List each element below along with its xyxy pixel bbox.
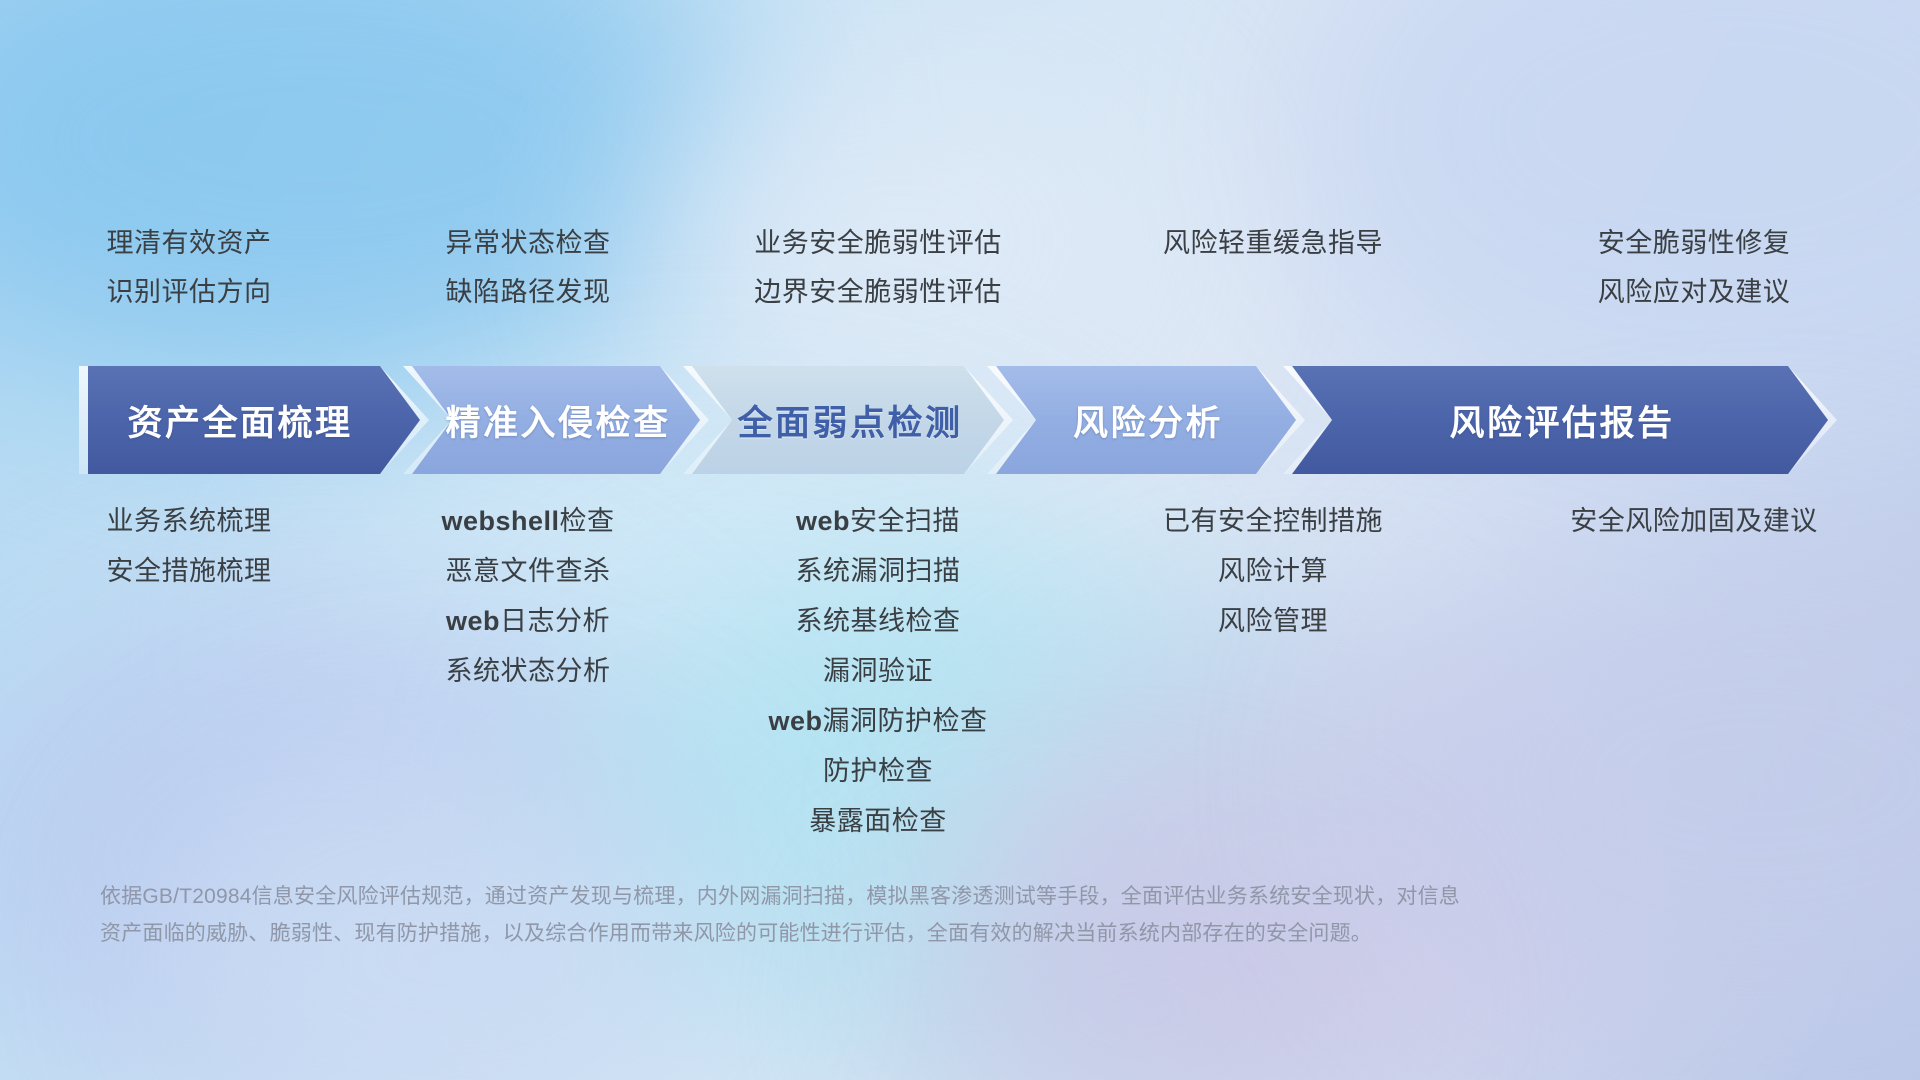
footer-description: 依据GB/T20984信息安全风险评估规范，通过资产发现与梳理，内外网漏洞扫描，… [100, 878, 1800, 952]
process-stage-label: 资产全面梳理 [127, 395, 352, 446]
process-stage-label: 风险分析 [1073, 395, 1223, 446]
stage-outcomes-2: 异常状态检查缺陷路径发现 [378, 230, 678, 328]
stage-activities-4: 已有安全控制措施风险计算风险管理 [1078, 508, 1468, 858]
footer-line-2: 资产面临的威胁、脆弱性、现有防护措施，以及综合作用而带来风险的可能性进行评估，全… [100, 915, 1800, 952]
stage-activities-5: 安全风险加固及建议 [1468, 508, 1920, 858]
outcome-item: 风险轻重缓急指导 [1163, 230, 1383, 257]
process-stage-label: 全面弱点检测 [737, 395, 962, 446]
outcome-item: 边界安全脆弱性评估 [754, 279, 1002, 306]
activity-item: 系统状态分析 [446, 658, 611, 685]
process-stage-4[interactable]: 风险分析 [996, 366, 1296, 474]
process-stage-5[interactable]: 风险评估报告 [1292, 366, 1828, 474]
outcome-item: 缺陷路径发现 [446, 279, 611, 306]
stage-activities-3: web安全扫描系统漏洞扫描系统基线检查漏洞验证web漏洞防护检查防护检查暴露面检… [678, 508, 1078, 858]
activity-item: 已有安全控制措施 [1163, 508, 1383, 535]
process-stage-3[interactable]: 全面弱点检测 [692, 366, 1004, 474]
activity-item: 系统基线检查 [796, 608, 961, 635]
activity-item: 安全措施梳理 [107, 558, 272, 585]
process-stage-1[interactable]: 资产全面梳理 [88, 366, 420, 474]
activity-item: 风险计算 [1218, 558, 1328, 585]
process-stage-label: 风险评估报告 [1449, 395, 1674, 446]
footer-line-1: 依据GB/T20984信息安全风险评估规范，通过资产发现与梳理，内外网漏洞扫描，… [100, 878, 1800, 915]
activity-item: 风险管理 [1218, 608, 1328, 635]
process-chevron-band: 资产全面梳理精准入侵检查全面弱点检测风险分析风险评估报告 [0, 366, 1920, 474]
activity-item: 安全风险加固及建议 [1570, 508, 1818, 535]
stage-outcomes-row: 理清有效资产识别评估方向 异常状态检查缺陷路径发现 业务安全脆弱性评估边界安全脆… [0, 230, 1920, 328]
stage-activities-row: 业务系统梳理安全措施梳理 webshell检查恶意文件查杀web日志分析系统状态… [0, 508, 1920, 858]
activity-item: web漏洞防护检查 [768, 708, 987, 735]
activity-item: 业务系统梳理 [107, 508, 272, 535]
stage-outcomes-3: 业务安全脆弱性评估边界安全脆弱性评估 [678, 230, 1078, 328]
activity-item: 漏洞验证 [823, 658, 933, 685]
stage-activities-2: webshell检查恶意文件查杀web日志分析系统状态分析 [378, 508, 678, 858]
activity-item: 恶意文件查杀 [446, 558, 611, 585]
outcome-item: 业务安全脆弱性评估 [754, 230, 1002, 257]
activity-item: webshell检查 [441, 508, 614, 535]
outcome-item: 风险应对及建议 [1598, 279, 1791, 306]
outcome-item: 识别评估方向 [107, 279, 272, 306]
outcome-item: 异常状态检查 [446, 230, 611, 257]
stage-activities-1: 业务系统梳理安全措施梳理 [0, 508, 378, 858]
outcome-item: 理清有效资产 [107, 230, 272, 257]
activity-item: web日志分析 [446, 608, 610, 635]
outcome-item: 安全脆弱性修复 [1598, 230, 1791, 257]
stage-outcomes-5: 安全脆弱性修复风险应对及建议 [1468, 230, 1920, 328]
stage-outcomes-4: 风险轻重缓急指导 [1078, 230, 1468, 328]
process-stage-label: 精准入侵检查 [445, 395, 670, 446]
stage-outcomes-1: 理清有效资产识别评估方向 [0, 230, 378, 328]
activity-item: web安全扫描 [796, 508, 960, 535]
activity-item: 暴露面检查 [809, 808, 947, 835]
activity-item: 系统漏洞扫描 [796, 558, 961, 585]
process-stage-2[interactable]: 精准入侵检查 [412, 366, 700, 474]
activity-item: 防护检查 [823, 758, 933, 785]
